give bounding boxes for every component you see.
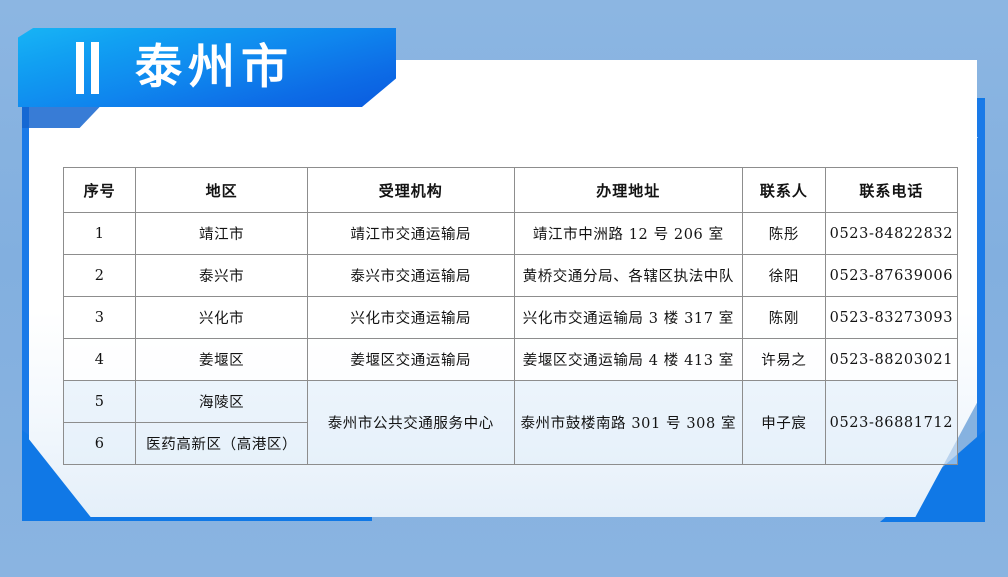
- table-row: 5 海陵区 泰州市公共交通服务中心 泰州市鼓楼南路 301 号 308 室 申子…: [64, 381, 958, 423]
- table-header-row: 序号 地区 受理机构 办理地址 联系人 联系电话: [64, 168, 958, 213]
- cell-tel: 0523-83273093: [825, 297, 957, 339]
- cell-org: 姜堰区交通运输局: [307, 339, 514, 381]
- table-header: 序号 地区 受理机构 办理地址 联系人 联系电话: [64, 168, 958, 213]
- cell-area: 医药高新区（高港区）: [136, 423, 308, 465]
- column-header-tel: 联系电话: [825, 168, 957, 213]
- column-header-addr: 办理地址: [514, 168, 742, 213]
- cell-tel: 0523-84822832: [825, 213, 957, 255]
- double-bar-icon: [76, 42, 99, 94]
- cell-addr: 泰州市鼓楼南路 301 号 308 室: [514, 381, 742, 465]
- column-header-no: 序号: [64, 168, 136, 213]
- table-row: 1 靖江市 靖江市交通运输局 靖江市中洲路 12 号 206 室 陈彤 0523…: [64, 213, 958, 255]
- cell-tel: 0523-88203021: [825, 339, 957, 381]
- cell-area: 兴化市: [136, 297, 308, 339]
- cell-area: 姜堰区: [136, 339, 308, 381]
- poster-canvas: 泰州市 序号 地区 受理机构 办理地址 联系人 联系电话 1: [0, 0, 1008, 577]
- cell-no: 2: [64, 255, 136, 297]
- page-title: 泰州市: [135, 44, 294, 91]
- cell-no: 3: [64, 297, 136, 339]
- cell-person: 徐阳: [743, 255, 826, 297]
- cell-no: 6: [64, 423, 136, 465]
- cell-org: 泰兴市交通运输局: [307, 255, 514, 297]
- cell-area: 靖江市: [136, 213, 308, 255]
- cell-org: 靖江市交通运输局: [307, 213, 514, 255]
- column-header-org: 受理机构: [307, 168, 514, 213]
- cell-addr: 姜堰区交通运输局 4 楼 413 室: [514, 339, 742, 381]
- table-row: 4 姜堰区 姜堰区交通运输局 姜堰区交通运输局 4 楼 413 室 许易之 05…: [64, 339, 958, 381]
- registration-table: 序号 地区 受理机构 办理地址 联系人 联系电话 1 靖江市 靖江市交通运输局 …: [63, 167, 958, 465]
- cell-addr: 靖江市中洲路 12 号 206 室: [514, 213, 742, 255]
- cell-no: 5: [64, 381, 136, 423]
- cell-org: 泰州市公共交通服务中心: [307, 381, 514, 465]
- cell-addr: 黄桥交通分局、各辖区执法中队: [514, 255, 742, 297]
- cell-person: 申子宸: [743, 381, 826, 465]
- cell-tel: 0523-87639006: [825, 255, 957, 297]
- table-row: 2 泰兴市 泰兴市交通运输局 黄桥交通分局、各辖区执法中队 徐阳 0523-87…: [64, 255, 958, 297]
- cell-no: 4: [64, 339, 136, 381]
- cell-person: 许易之: [743, 339, 826, 381]
- column-header-area: 地区: [136, 168, 308, 213]
- cell-no: 1: [64, 213, 136, 255]
- header-ribbon: 泰州市: [18, 28, 396, 107]
- cell-person: 陈刚: [743, 297, 826, 339]
- cell-addr: 兴化市交通运输局 3 楼 317 室: [514, 297, 742, 339]
- table-body: 1 靖江市 靖江市交通运输局 靖江市中洲路 12 号 206 室 陈彤 0523…: [64, 213, 958, 465]
- cell-area: 海陵区: [136, 381, 308, 423]
- registration-table-wrapper: 序号 地区 受理机构 办理地址 联系人 联系电话 1 靖江市 靖江市交通运输局 …: [63, 167, 958, 465]
- cell-area: 泰兴市: [136, 255, 308, 297]
- cell-org: 兴化市交通运输局: [307, 297, 514, 339]
- cell-tel: 0523-86881712: [825, 381, 957, 465]
- column-header-person: 联系人: [743, 168, 826, 213]
- cell-person: 陈彤: [743, 213, 826, 255]
- table-row: 3 兴化市 兴化市交通运输局 兴化市交通运输局 3 楼 317 室 陈刚 052…: [64, 297, 958, 339]
